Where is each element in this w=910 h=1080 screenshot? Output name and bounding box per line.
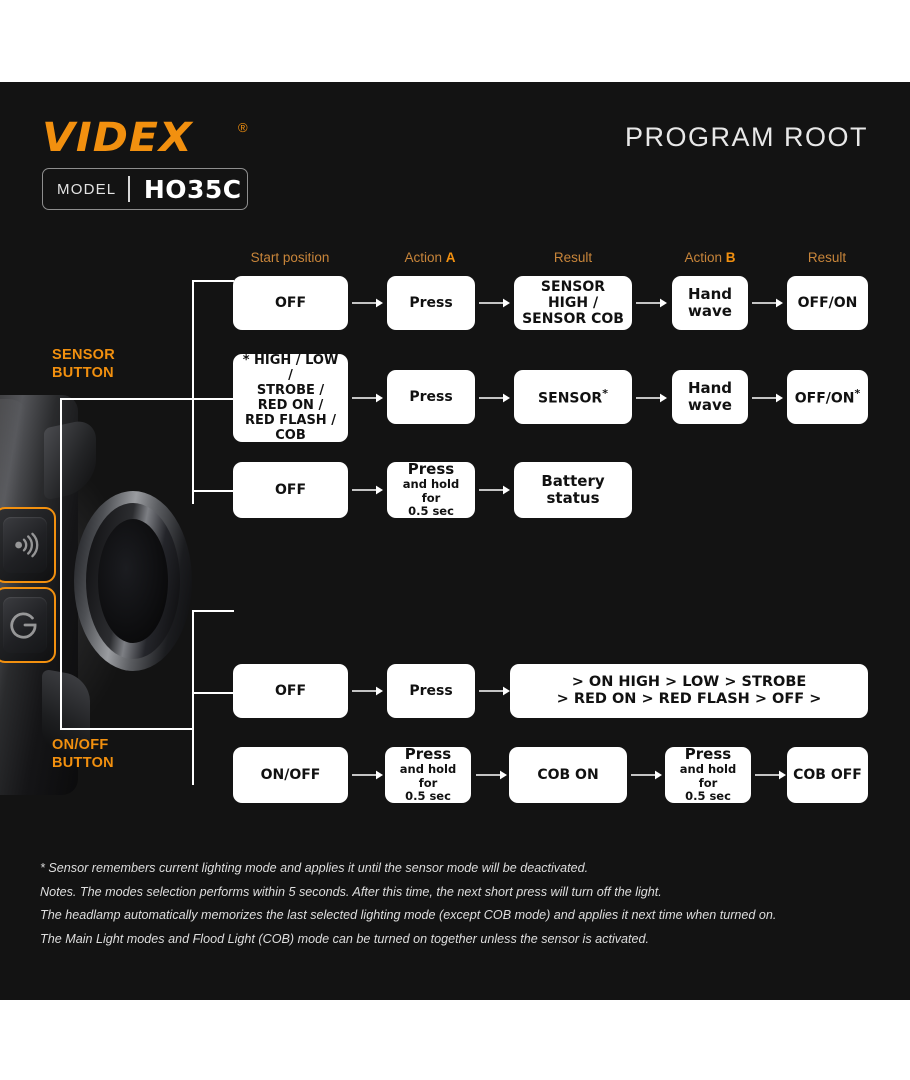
arrow-right-icon bbox=[352, 297, 384, 309]
onoff-connector-row1 bbox=[192, 610, 234, 612]
page-title: PROGRAM ROOT bbox=[625, 122, 868, 153]
footnote-line: The Main Light modes and Flood Light (CO… bbox=[40, 933, 870, 946]
box-start-modes[interactable]: * HIGH / LOW / STROBE / RED ON / RED FLA… bbox=[233, 354, 348, 442]
box-text: Hand wave bbox=[688, 286, 732, 321]
box-action-press[interactable]: Press bbox=[387, 664, 475, 718]
sensor-button-key[interactable] bbox=[3, 517, 47, 573]
footnotes: * Sensor remembers current lighting mode… bbox=[40, 862, 870, 956]
box-result-sensor[interactable]: SENSOR* bbox=[514, 370, 632, 424]
box-action-press[interactable]: Press bbox=[387, 370, 475, 424]
column-header-result-b: Result bbox=[762, 250, 892, 265]
box-start-off[interactable]: OFF bbox=[233, 462, 348, 518]
box-result-off-on[interactable]: OFF/ON bbox=[787, 276, 868, 330]
column-header-action-b: Action B bbox=[645, 250, 775, 265]
arrow-right-icon bbox=[636, 297, 668, 309]
arrow-right-icon bbox=[755, 769, 787, 781]
footnote-star: * bbox=[602, 387, 608, 400]
sensor-connector-row1 bbox=[192, 280, 234, 282]
sensor-connector-row3 bbox=[192, 490, 234, 492]
box-start-off[interactable]: OFF bbox=[233, 276, 348, 330]
onoff-connector-row2 bbox=[192, 692, 234, 694]
box-action-press[interactable]: Press bbox=[387, 276, 475, 330]
headlamp-lens bbox=[98, 519, 168, 643]
sensor-label-line1: SENSOR bbox=[52, 347, 115, 365]
box-result-sensor-high[interactable]: SENSOR HIGH / SENSOR COB bbox=[514, 276, 632, 330]
arrow-right-icon bbox=[352, 484, 384, 496]
arrow-right-icon bbox=[752, 392, 784, 404]
box-text: > ON HIGH > LOW > STROBE > RED ON > RED … bbox=[557, 674, 822, 708]
sensor-label-line2: BUTTON bbox=[52, 365, 115, 383]
arrow-right-icon bbox=[479, 392, 511, 404]
box-text: Press and hold for 0.5 sec bbox=[671, 746, 745, 804]
arrow-right-icon bbox=[479, 685, 511, 697]
box-action-press-hold[interactable]: Press and hold for 0.5 sec bbox=[387, 462, 475, 518]
box-result-cob-off[interactable]: COB OFF bbox=[787, 747, 868, 803]
model-value: HO35C bbox=[130, 175, 242, 204]
power-icon bbox=[8, 608, 42, 642]
column-header-accent: B bbox=[726, 250, 736, 265]
box-start-on-off[interactable]: ON/OFF bbox=[233, 747, 348, 803]
column-header-accent: A bbox=[446, 250, 456, 265]
onoff-button-leader bbox=[60, 728, 193, 730]
column-header-label: Start position bbox=[251, 250, 330, 265]
sensor-connector-row2 bbox=[192, 398, 234, 400]
page-root: VIDEX ® MODEL HO35C PROGRAM ROOT Start p… bbox=[0, 0, 910, 1080]
arrow-right-icon bbox=[479, 484, 511, 496]
box-text: Battery status bbox=[541, 473, 604, 508]
sensor-button-highlight[interactable] bbox=[0, 507, 56, 583]
column-header-label: Result bbox=[554, 250, 592, 265]
column-header-action-a: Action A bbox=[365, 250, 495, 265]
instruction-panel: VIDEX ® MODEL HO35C PROGRAM ROOT Start p… bbox=[0, 82, 910, 1000]
box-start-off[interactable]: OFF bbox=[233, 664, 348, 718]
arrow-right-icon bbox=[631, 769, 663, 781]
column-header-start-position: Start position bbox=[215, 250, 365, 265]
footnote-star: * bbox=[855, 387, 861, 400]
column-header-label: Action bbox=[404, 250, 445, 265]
box-text: Hand wave bbox=[688, 380, 732, 415]
sensor-bracket-vertical bbox=[192, 280, 194, 504]
box-action-press-hold[interactable]: Press and hold for 0.5 sec bbox=[665, 747, 751, 803]
brand-logo: VIDEX ® bbox=[42, 118, 184, 158]
model-badge: MODEL HO35C bbox=[42, 168, 248, 210]
box-result-off-on[interactable]: OFF/ON* bbox=[787, 370, 868, 424]
footnote-line: * Sensor remembers current lighting mode… bbox=[40, 862, 870, 875]
box-text: SENSOR HIGH / SENSOR COB bbox=[520, 279, 626, 328]
brand-logo-text: VIDEX bbox=[42, 118, 193, 158]
box-result-battery-status[interactable]: Battery status bbox=[514, 462, 632, 518]
box-text: SENSOR* bbox=[538, 388, 608, 407]
column-header-label: Result bbox=[808, 250, 846, 265]
sensor-wave-icon bbox=[8, 528, 42, 562]
arrow-right-icon bbox=[352, 392, 384, 404]
footnote-line: Notes. The modes selection performs with… bbox=[40, 886, 870, 899]
box-action-hand-wave[interactable]: Hand wave bbox=[672, 276, 748, 330]
box-result-cob-on[interactable]: COB ON bbox=[509, 747, 627, 803]
registered-mark: ® bbox=[238, 120, 248, 135]
onoff-label-line2: BUTTON bbox=[52, 755, 114, 773]
box-result-mode-sequence[interactable]: > ON HIGH > LOW > STROBE > RED ON > RED … bbox=[510, 664, 868, 718]
box-action-hand-wave[interactable]: Hand wave bbox=[672, 370, 748, 424]
onoff-label-line1: ON/OFF bbox=[52, 737, 114, 755]
arrow-right-icon bbox=[636, 392, 668, 404]
arrow-right-icon bbox=[479, 297, 511, 309]
sensor-button-leader bbox=[60, 398, 193, 400]
box-text: * HIGH / LOW / STROBE / RED ON / RED FLA… bbox=[239, 353, 342, 443]
onoff-button-highlight[interactable] bbox=[0, 587, 56, 663]
box-text: Press and hold for 0.5 sec bbox=[393, 461, 469, 519]
arrow-right-icon bbox=[476, 769, 508, 781]
footnote-line: The headlamp automatically memorizes the… bbox=[40, 909, 870, 922]
arrow-right-icon bbox=[352, 685, 384, 697]
onoff-button-key[interactable] bbox=[3, 597, 47, 653]
onoff-bracket-vertical bbox=[192, 610, 194, 785]
column-header-label: Action bbox=[684, 250, 725, 265]
onoff-button-leader-vertical bbox=[60, 398, 62, 728]
arrow-right-icon bbox=[752, 297, 784, 309]
sensor-button-label: SENSOR BUTTON bbox=[52, 347, 115, 382]
arrow-right-icon bbox=[352, 769, 384, 781]
model-label: MODEL bbox=[43, 181, 128, 198]
column-header-result-a: Result bbox=[498, 250, 648, 265]
box-action-press-hold[interactable]: Press and hold for 0.5 sec bbox=[385, 747, 471, 803]
onoff-button-label: ON/OFF BUTTON bbox=[52, 737, 114, 772]
box-text: OFF/ON* bbox=[795, 388, 861, 407]
box-text: Press and hold for 0.5 sec bbox=[391, 746, 465, 804]
